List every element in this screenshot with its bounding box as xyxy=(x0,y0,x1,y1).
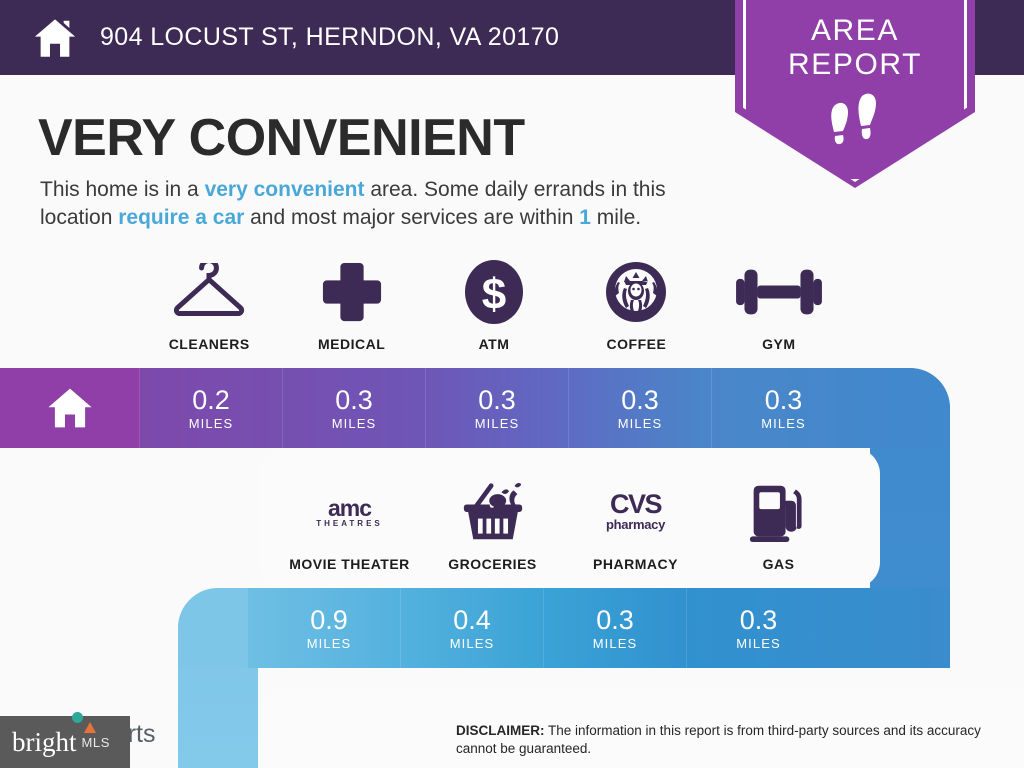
distance-bar-row-2: 0.9 MILES 0.4 MILES 0.3 MILES 0.3 MILES xyxy=(178,588,950,668)
distance-unit: MILES xyxy=(618,416,663,431)
distance-value: 0.3 xyxy=(765,386,803,415)
distance-unit: MILES xyxy=(761,416,806,431)
poi-movie-theater: amc THEATRES MOVIE THEATER xyxy=(278,478,421,572)
poi-groceries: GROCERIES xyxy=(421,478,564,572)
poi-gym: GYM xyxy=(708,258,850,352)
area-report-page: 904 LOCUST ST, HERNDON, VA 20170 AREA RE… xyxy=(0,0,1024,768)
distance-value: 0.3 xyxy=(335,386,373,415)
distance-value: 0.2 xyxy=(192,386,230,415)
distance-unit: MILES xyxy=(475,416,520,431)
distance-cell-coffee: 0.3 MILES xyxy=(569,368,712,448)
distance-unit: MILES xyxy=(332,416,377,431)
distance-cell-groceries: 0.4 MILES xyxy=(401,588,544,668)
subtitle-highlight-3: 1 xyxy=(579,206,591,229)
mls-brand-name: bright xyxy=(12,728,77,756)
poi-atm: $ ATM xyxy=(423,258,565,352)
poi-label: GYM xyxy=(762,336,795,352)
poi-label: COFFEE xyxy=(607,336,667,352)
distance-cells-row-2: 0.9 MILES 0.4 MILES 0.3 MILES 0.3 MILES xyxy=(258,588,830,668)
distance-value: 0.4 xyxy=(453,606,491,635)
amc-wordmark: amc xyxy=(316,497,383,519)
home-marker-cell xyxy=(0,368,140,448)
medical-cross-icon xyxy=(321,258,383,326)
page-subtitle: This home is in a very convenient area. … xyxy=(40,176,740,232)
logo-accent-triangle xyxy=(84,722,96,733)
subtitle-highlight-2: require a car xyxy=(118,206,244,229)
area-report-badge: AREA REPORT xyxy=(735,0,975,188)
poi-icons-row-2: amc THEATRES MOVIE THEATER xyxy=(278,478,850,572)
starbucks-icon xyxy=(604,258,668,326)
cvs-wordmark: CVS xyxy=(606,492,665,517)
poi-label: MOVIE THEATER xyxy=(289,556,410,572)
badge-line-1: AREA xyxy=(735,14,975,48)
poi-coffee: COFFEE xyxy=(565,258,707,352)
distance-value: 0.3 xyxy=(478,386,516,415)
distance-bar-row-1: 0.2 MILES 0.3 MILES 0.3 MILES 0.3 MILES … xyxy=(0,368,950,448)
home-icon xyxy=(47,387,93,429)
poi-label: PHARMACY xyxy=(593,556,678,572)
dumbbell-icon xyxy=(736,258,822,326)
distance-unit: MILES xyxy=(189,416,234,431)
distance-unit: MILES xyxy=(307,636,352,651)
grocery-basket-icon xyxy=(460,478,526,546)
poi-gas: GAS xyxy=(707,478,850,572)
distance-unit: MILES xyxy=(450,636,495,651)
poi-pharmacy: CVS pharmacy PHARMACY xyxy=(564,478,707,572)
poi-label: ATM xyxy=(479,336,510,352)
subtitle-part-4: mile. xyxy=(591,206,641,229)
distance-cell-medical: 0.3 MILES xyxy=(283,368,426,448)
subtitle-part-3: and most major services are within xyxy=(244,206,579,229)
poi-label: GAS xyxy=(763,556,795,572)
distance-value: 0.3 xyxy=(621,386,659,415)
distance-cells-row-1: 0.2 MILES 0.3 MILES 0.3 MILES 0.3 MILES … xyxy=(0,368,855,448)
gas-pump-icon xyxy=(748,478,810,546)
subtitle-highlight-1: very convenient xyxy=(205,178,365,201)
poi-label: CLEANERS xyxy=(169,336,250,352)
bright-mls-logo: bright MLS xyxy=(0,716,130,768)
mls-brand-tag: MLS xyxy=(82,735,111,750)
disclaimer-label: DISCLAIMER: xyxy=(456,723,545,738)
poi-cleaners: CLEANERS xyxy=(138,258,280,352)
distance-unit: MILES xyxy=(593,636,638,651)
cvs-pharmacy-icon: CVS pharmacy xyxy=(606,478,665,546)
distance-value: 0.9 xyxy=(310,606,348,635)
home-icon xyxy=(32,15,78,61)
amc-subtext: THEATRES xyxy=(316,519,383,528)
footprints-icon xyxy=(824,92,886,148)
distance-cell-pharmacy: 0.3 MILES xyxy=(544,588,687,668)
distance-cell-movie-theater: 0.9 MILES xyxy=(258,588,401,668)
distance-unit: MILES xyxy=(736,636,781,651)
amc-theatres-icon: amc THEATRES xyxy=(316,478,383,546)
distance-cell-cleaners: 0.2 MILES xyxy=(140,368,283,448)
distance-cell-atm: 0.3 MILES xyxy=(426,368,569,448)
disclaimer: DISCLAIMER: The information in this repo… xyxy=(456,722,986,758)
poi-label: GROCERIES xyxy=(448,556,537,572)
hanger-icon xyxy=(169,258,249,326)
distance-value: 0.3 xyxy=(740,606,778,635)
cvs-subtext: pharmacy xyxy=(606,517,665,532)
svg-text:$: $ xyxy=(482,270,506,319)
distance-cell-gym: 0.3 MILES xyxy=(712,368,855,448)
badge-line-2: REPORT xyxy=(735,48,975,82)
header-address: 904 LOCUST ST, HERNDON, VA 20170 xyxy=(100,23,559,52)
logo-accent-dot xyxy=(72,712,83,723)
subtitle-part-1: This home is in a xyxy=(40,178,205,201)
poi-label: MEDICAL xyxy=(318,336,385,352)
poi-icons-row-1: CLEANERS MEDICAL $ ATM xyxy=(138,258,850,352)
distance-value: 0.3 xyxy=(596,606,634,635)
poi-medical: MEDICAL xyxy=(280,258,422,352)
distance-cell-gas: 0.3 MILES xyxy=(687,588,830,668)
badge-title: AREA REPORT xyxy=(735,0,975,82)
page-title: VERY CONVENIENT xyxy=(38,108,525,168)
dollar-circle-icon: $ xyxy=(463,258,525,326)
